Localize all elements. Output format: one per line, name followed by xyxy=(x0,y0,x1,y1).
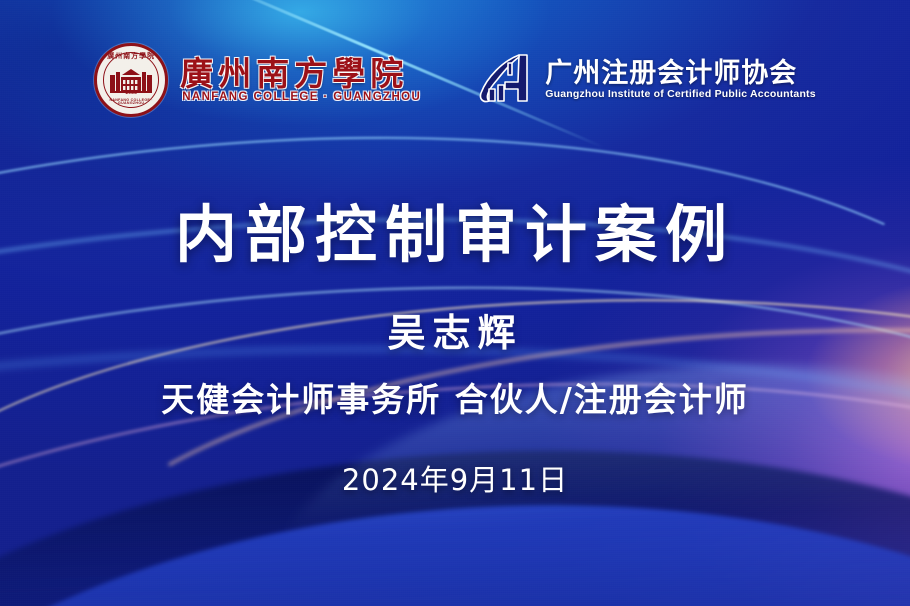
logo-row: 廣州南方學院 xyxy=(0,30,910,130)
letter-a-monogram-icon xyxy=(475,49,537,111)
presenter-affiliation: 天健会计师事务所 合伙人/注册会计师 xyxy=(0,382,910,418)
slide-title: 内部控制审计案例 xyxy=(0,202,910,269)
title-slide: 廣州南方學院 xyxy=(0,0,910,606)
presenter-name: 吴志辉 xyxy=(0,312,910,354)
slide-date: 2024年9月11日 xyxy=(0,465,910,497)
cpa-wordmark: 广州注册会计师协会 Guangzhou Institute of Certifi… xyxy=(545,60,816,100)
crest-arc-top-text: 廣州南方學院 xyxy=(97,53,165,60)
crest-arc-bottom-text: NANFANG COLLEGE · GUANGZHOU xyxy=(97,99,165,106)
cpa-logo: 广州注册会计师协会 Guangzhou Institute of Certifi… xyxy=(475,49,816,111)
cpa-name-en: Guangzhou Institute of Certified Public … xyxy=(545,89,816,100)
college-wordmark: 廣州南方學院 NANFANG COLLEGE · GUANGZHOU xyxy=(180,57,421,104)
college-name-en: NANFANG COLLEGE · GUANGZHOU xyxy=(180,92,421,104)
cpa-name-cn: 广州注册会计师协会 xyxy=(545,60,816,87)
crest-year-text: 1988 xyxy=(97,90,165,96)
university-crest-icon: 廣州南方學院 xyxy=(94,43,168,117)
college-name-cn: 廣州南方學院 xyxy=(180,57,421,90)
college-logo: 廣州南方學院 xyxy=(94,43,421,117)
